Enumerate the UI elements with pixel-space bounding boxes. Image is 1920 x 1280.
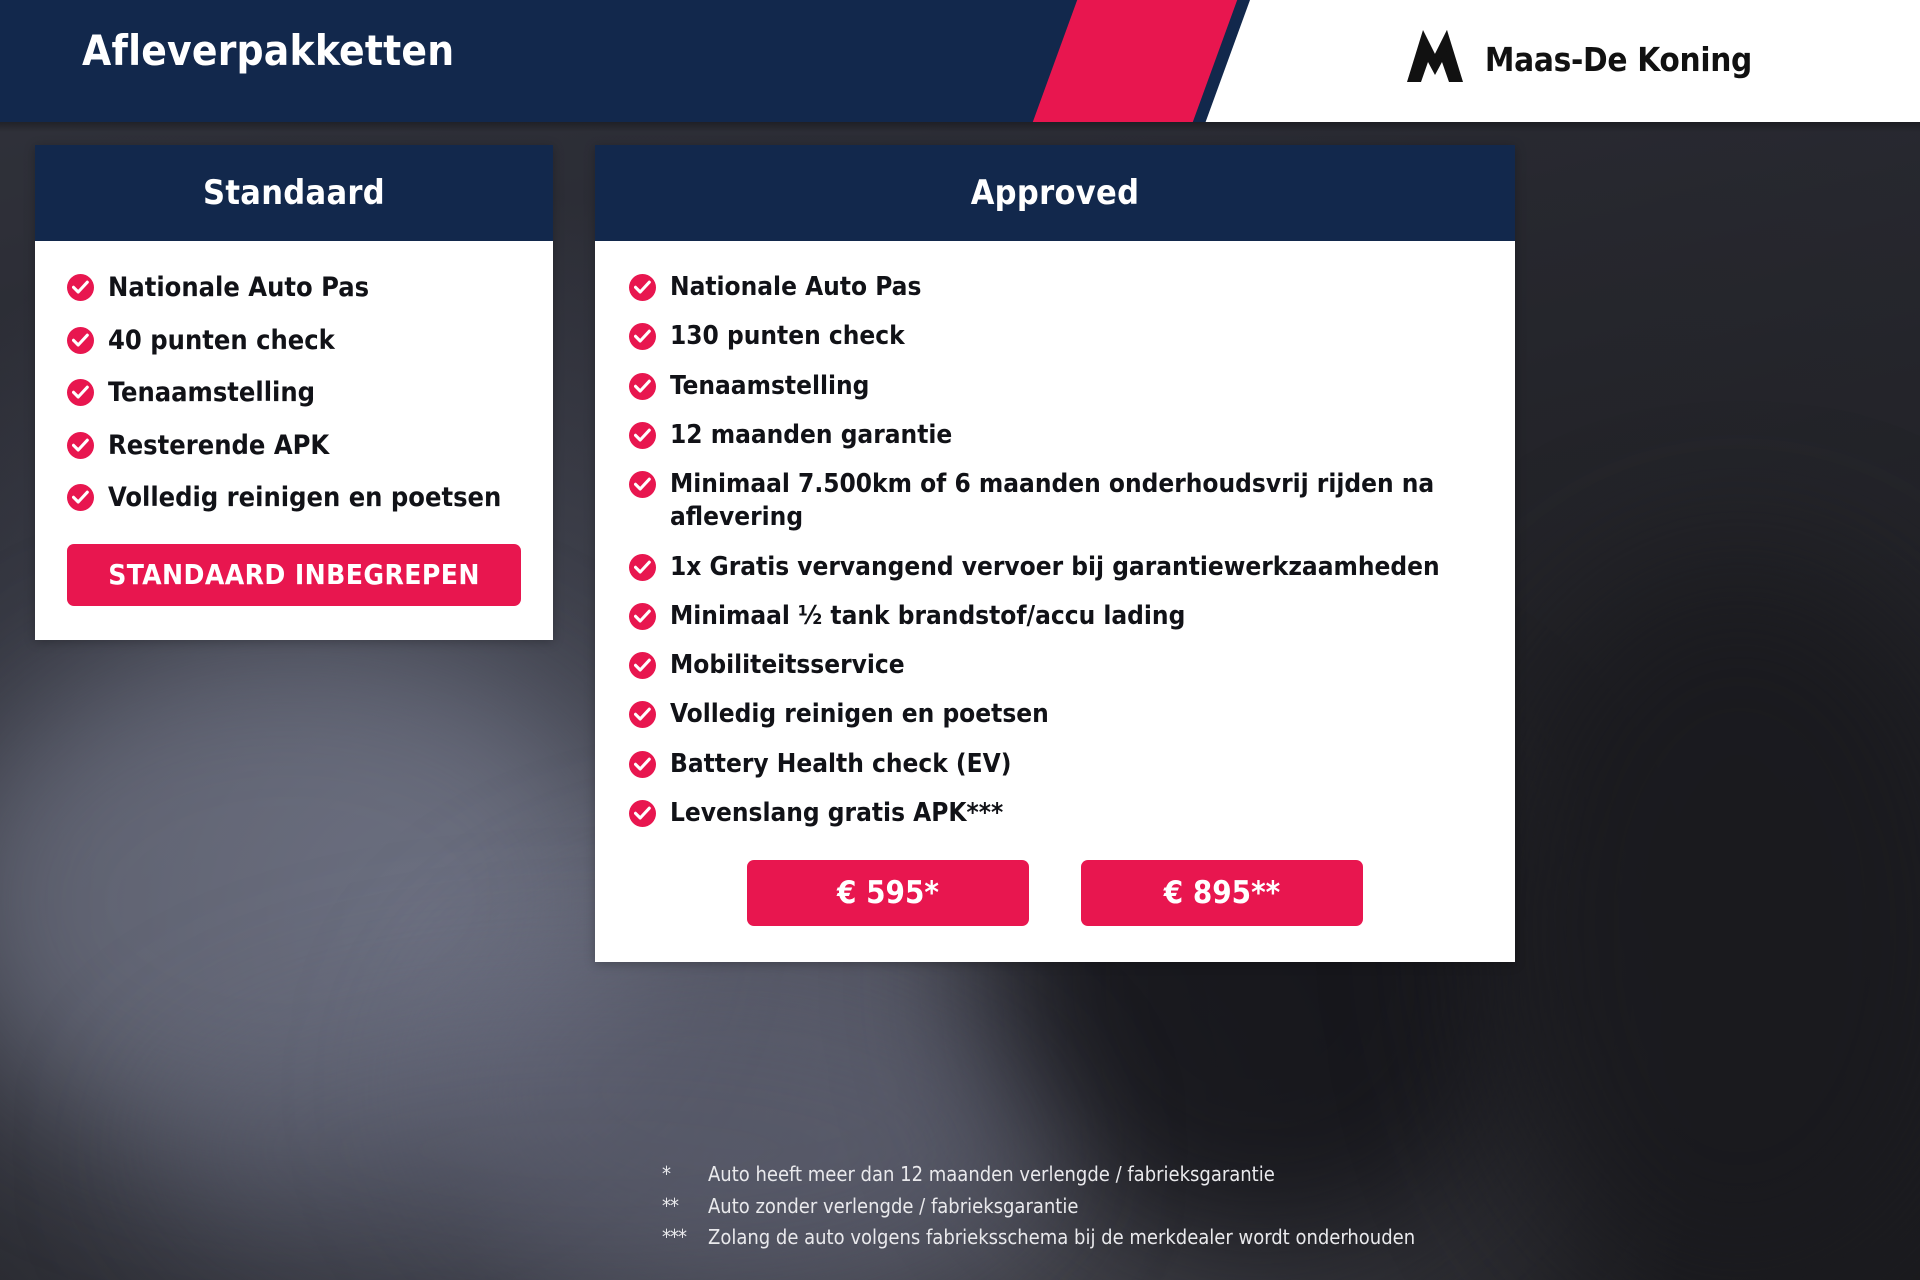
maas-de-koning-m-logo-icon — [1403, 28, 1467, 91]
feature-item: Volledig reinigen en poetsen — [629, 698, 1481, 731]
feature-item: Mobiliteitsservice — [629, 649, 1481, 682]
feature-label: Resterende APK — [108, 429, 329, 464]
approved-card-title: Approved — [971, 173, 1140, 213]
check-circle-icon — [629, 373, 656, 400]
footnotes-block: *Auto heeft meer dan 12 maanden verlengd… — [662, 1162, 1662, 1257]
feature-item: Nationale Auto Pas — [629, 271, 1481, 304]
feature-label: 40 punten check — [108, 324, 335, 359]
header-pink-stripe — [1033, 0, 1237, 122]
check-circle-icon — [629, 701, 656, 728]
price-button-row: € 595*€ 895** — [629, 860, 1481, 926]
header-shadow — [0, 122, 1920, 132]
feature-label: Nationale Auto Pas — [670, 271, 921, 304]
approved-package-card: Approved Nationale Auto Pas130 punten ch… — [595, 145, 1515, 962]
footnote: *Auto heeft meer dan 12 maanden verlengd… — [662, 1162, 1662, 1188]
feature-item: Nationale Auto Pas — [67, 271, 521, 306]
footnote-marker: ** — [662, 1194, 698, 1220]
feature-item: Battery Health check (EV) — [629, 748, 1481, 781]
page-header: Afleverpakketten Maas-De Koning — [0, 0, 1920, 122]
check-circle-icon — [629, 800, 656, 827]
feature-label: Tenaamstelling — [108, 376, 315, 411]
approved-card-body: Nationale Auto Pas130 punten checkTenaam… — [595, 241, 1515, 962]
check-circle-icon — [67, 484, 94, 511]
footnote-marker: *** — [662, 1225, 698, 1251]
feature-item: Minimaal 7.500km of 6 maanden onderhouds… — [629, 468, 1481, 535]
approved-card-header: Approved — [595, 145, 1515, 241]
feature-item: Volledig reinigen en poetsen — [67, 481, 521, 516]
check-circle-icon — [629, 603, 656, 630]
check-circle-icon — [67, 379, 94, 406]
feature-item: Levenslang gratis APK*** — [629, 797, 1481, 830]
check-circle-icon — [67, 274, 94, 301]
footnote-text: Auto zonder verlengde / fabrieksgarantie — [708, 1194, 1078, 1220]
price-button[interactable]: € 595* — [747, 860, 1029, 926]
feature-item: 1x Gratis vervangend vervoer bij garanti… — [629, 551, 1481, 584]
check-circle-icon — [629, 422, 656, 449]
feature-label: Minimaal 7.500km of 6 maanden onderhouds… — [670, 468, 1481, 535]
check-circle-icon — [629, 554, 656, 581]
feature-label: Battery Health check (EV) — [670, 748, 1011, 781]
standaard-package-card: Standaard Nationale Auto Pas40 punten ch… — [35, 145, 553, 640]
feature-item: Resterende APK — [67, 429, 521, 464]
check-circle-icon — [629, 652, 656, 679]
feature-label: Levenslang gratis APK*** — [670, 797, 1003, 830]
check-circle-icon — [629, 323, 656, 350]
standaard-inbegrepen-button[interactable]: STANDAARD INBEGREPEN — [67, 544, 521, 606]
footnote-marker: * — [662, 1162, 698, 1188]
feature-label: 130 punten check — [670, 320, 905, 353]
standaard-card-title: Standaard — [203, 173, 385, 213]
feature-item: 12 maanden garantie — [629, 419, 1481, 452]
feature-item: Tenaamstelling — [67, 376, 521, 411]
brand-lockup: Maas-De Koning — [1403, 28, 1752, 91]
feature-label: Nationale Auto Pas — [108, 271, 369, 306]
check-circle-icon — [629, 751, 656, 778]
feature-label: Mobiliteitsservice — [670, 649, 905, 682]
price-button[interactable]: € 895** — [1081, 860, 1363, 926]
page-title: Afleverpakketten — [82, 26, 454, 75]
check-circle-icon — [629, 471, 656, 498]
standaard-card-body: Nationale Auto Pas40 punten checkTenaams… — [35, 241, 553, 640]
feature-item: Tenaamstelling — [629, 370, 1481, 403]
footnote-text: Zolang de auto volgens fabrieksschema bi… — [708, 1225, 1415, 1251]
feature-item: 130 punten check — [629, 320, 1481, 353]
feature-label: Volledig reinigen en poetsen — [670, 698, 1049, 731]
feature-label: 12 maanden garantie — [670, 419, 952, 452]
check-circle-icon — [67, 327, 94, 354]
footnote: ***Zolang de auto volgens fabrieksschema… — [662, 1225, 1662, 1251]
feature-label: 1x Gratis vervangend vervoer bij garanti… — [670, 551, 1440, 584]
poster-canvas: Afleverpakketten Maas-De Koning Standaar… — [0, 0, 1920, 1280]
feature-item: 40 punten check — [67, 324, 521, 359]
brand-name: Maas-De Koning — [1485, 40, 1752, 79]
feature-item: Minimaal ½ tank brandstof/accu lading — [629, 600, 1481, 633]
standaard-card-header: Standaard — [35, 145, 553, 241]
check-circle-icon — [67, 432, 94, 459]
approved-feature-list: Nationale Auto Pas130 punten checkTenaam… — [629, 271, 1481, 830]
feature-label: Tenaamstelling — [670, 370, 869, 403]
feature-label: Minimaal ½ tank brandstof/accu lading — [670, 600, 1185, 633]
standaard-feature-list: Nationale Auto Pas40 punten checkTenaams… — [67, 271, 521, 516]
footnote: **Auto zonder verlengde / fabrieksgarant… — [662, 1194, 1662, 1220]
check-circle-icon — [629, 274, 656, 301]
footnote-text: Auto heeft meer dan 12 maanden verlengde… — [708, 1162, 1275, 1188]
feature-label: Volledig reinigen en poetsen — [108, 481, 501, 516]
